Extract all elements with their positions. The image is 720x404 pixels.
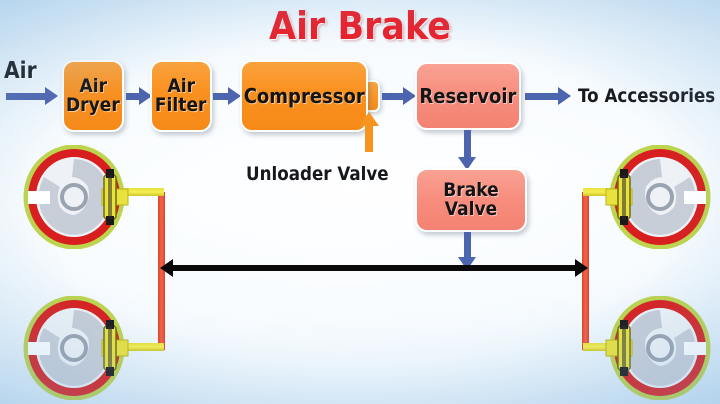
box-air-filter[interactable]: Air Filter xyxy=(150,60,212,132)
arrow-reservoir-to-brake-valve xyxy=(458,130,476,170)
box-compressor[interactable]: Compressor xyxy=(240,60,368,132)
unloader-valve-label: Unloader Valve xyxy=(246,163,389,185)
brake-drum-rear-left[interactable] xyxy=(22,296,134,400)
arrow-unloader-to-compressor xyxy=(357,112,381,152)
box-compressor-label: Compressor xyxy=(244,86,365,106)
box-air-dryer[interactable]: Air Dryer xyxy=(62,60,124,132)
arrow-reservoir-to-accessories xyxy=(525,87,571,105)
brake-drum-front-right[interactable] xyxy=(600,145,712,249)
arrow-compressor-to-reservoir xyxy=(382,87,416,105)
box-brake-valve-label: Brake Valve xyxy=(422,181,519,220)
arrow-air-to-dryer xyxy=(6,87,58,105)
box-reservoir[interactable]: Reservoir xyxy=(415,62,521,130)
arrow-dryer-to-filter xyxy=(126,87,152,105)
air-inlet-label: Air xyxy=(4,58,37,84)
box-air-dryer-line2: Dryer xyxy=(66,96,120,115)
air-brake-diagram: Air Brake Air Air Dryer Air Filter Compr… xyxy=(0,0,720,404)
page-title: Air Brake xyxy=(29,4,691,48)
to-accessories-label: To Accessories xyxy=(578,85,715,107)
arrow-filter-to-compressor xyxy=(213,87,241,105)
arrow-brake-line-distribution xyxy=(160,259,588,277)
box-brake-valve[interactable]: Brake Valve xyxy=(415,168,527,232)
box-air-filter-line2: Filter xyxy=(155,96,207,115)
box-reservoir-label: Reservoir xyxy=(419,86,516,106)
brake-drum-rear-right[interactable] xyxy=(600,296,712,400)
brake-drum-front-left[interactable] xyxy=(22,145,134,249)
